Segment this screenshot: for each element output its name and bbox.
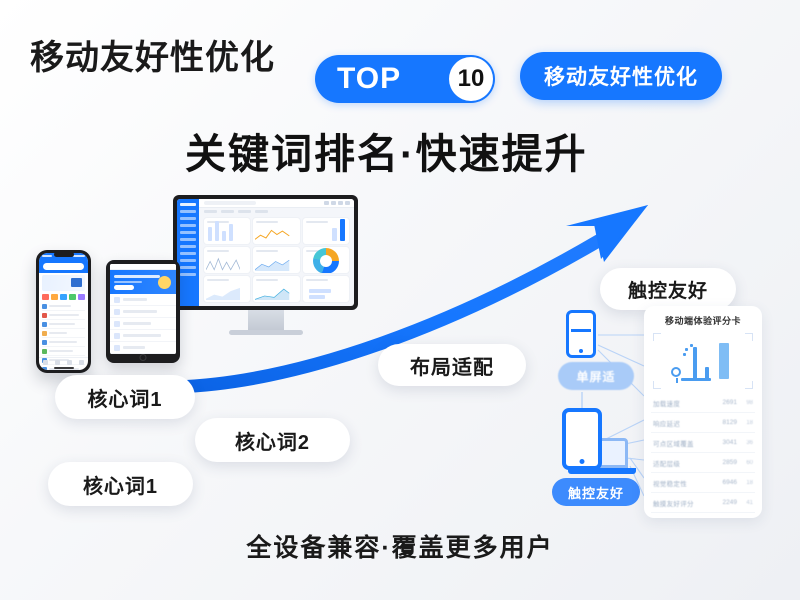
- scorecard-row-name: 触摸友好评分: [653, 498, 713, 508]
- keyword-pill-2[interactable]: 核心词2: [195, 418, 350, 462]
- scorecard-row-value: 2859: [713, 459, 737, 466]
- dashboard-donut-card: [303, 247, 349, 273]
- scorecard-row-name: 视觉稳定性: [653, 478, 713, 488]
- scorecard-row-value: 8129: [713, 419, 737, 426]
- phone-search-bar: [43, 263, 84, 270]
- top-rank-badge: TOP 10: [315, 55, 495, 103]
- scorecard-chart: [653, 333, 753, 389]
- phone-notch: [54, 252, 74, 257]
- dashboard-card: [204, 247, 250, 273]
- scorecard-row-value: 3041: [713, 439, 737, 446]
- scorecard-row: 加载速度269198: [651, 393, 755, 413]
- tablet-hero-banner: [110, 270, 176, 294]
- dashboard-card: [253, 218, 299, 244]
- scorecard-row-score: 60: [737, 460, 753, 466]
- scorecard-row-name: 适配层级: [653, 458, 713, 468]
- page-title: 关键词排名·快速提升: [185, 120, 588, 180]
- dashboard-tabs: [199, 208, 354, 215]
- scorecard-row-name: 响应延迟: [653, 418, 713, 428]
- diagram-tag-single-screen: 单屏适: [558, 362, 634, 390]
- scorecard-row-name: 可点区域覆盖: [653, 438, 713, 448]
- scorecard-row-value: 2691: [713, 399, 737, 406]
- scorecard-row: 适配层级285960: [651, 453, 755, 473]
- dashboard-card: [204, 218, 250, 244]
- poster-canvas: 移动友好性优化 TOP 10 移动友好性优化 关键词排名·快速提升: [0, 0, 800, 600]
- scorecard-rows: 加载速度269198响应延迟812918可点区域覆盖304136适配层级2859…: [651, 393, 755, 513]
- scorecard-row-score: 18: [737, 480, 753, 486]
- dashboard-card: [303, 276, 349, 302]
- dashboard-card: [253, 247, 299, 273]
- dashboard-card: [303, 218, 349, 244]
- phone-banner: [42, 275, 85, 291]
- scorecard-row-name: 加载速度: [653, 398, 713, 408]
- scorecard-row-score: 36: [737, 440, 753, 446]
- scorecard-row: 触摸友好评分224941: [651, 493, 755, 513]
- keyword-pill-layout-fit[interactable]: 布局适配: [378, 344, 526, 386]
- keyword-pill-3[interactable]: 核心词1: [48, 462, 193, 506]
- scorecard-row-value: 6946: [713, 479, 737, 486]
- monitor-base: [229, 330, 303, 335]
- monitor-screen: [173, 195, 358, 310]
- scorecard-row: 可点区域覆盖304136: [651, 433, 755, 453]
- dashboard-card: [253, 276, 299, 302]
- scorecard-title: 移动端体验评分卡: [651, 314, 755, 327]
- dashboard-sidebar: [177, 199, 199, 306]
- dashboard-cards: [199, 215, 354, 306]
- phone-home-indicator: [54, 367, 74, 369]
- keyword-pill-1[interactable]: 核心词1: [55, 375, 195, 419]
- dashboard-card: [204, 276, 250, 302]
- donut-chart: [313, 248, 339, 273]
- tablet-mockup: [106, 260, 180, 363]
- dashboard-topbar: [199, 199, 354, 208]
- scorecard-row-score: 41: [737, 500, 753, 506]
- monitor-stand: [248, 310, 284, 330]
- footer-tagline: 全设备兼容·覆盖更多用户: [0, 528, 800, 564]
- top-badge-label: TOP: [337, 62, 401, 96]
- diagram-tag-touch-friendly: 触控友好: [552, 478, 640, 506]
- small-phone-icon: [566, 310, 596, 358]
- phone-mockup: [36, 250, 91, 373]
- mobile-experience-diagram: 单屏适 触控友好 移动端体验评分卡 加载速度269198响应延迟812918可点…: [548, 300, 763, 525]
- header-side-pill: 移动友好性优化: [520, 52, 722, 100]
- scorecard-row: 响应延迟812918: [651, 413, 755, 433]
- scorecard-row-value: 2249: [713, 499, 737, 506]
- top-badge-number: 10: [449, 57, 493, 101]
- tablet-home-button: [140, 354, 147, 361]
- scorecard-row-score: 98: [737, 400, 753, 406]
- large-phone-icon: [562, 408, 602, 470]
- scorecard-row: 视觉稳定性694618: [651, 473, 755, 493]
- phone-tabbar: [39, 357, 88, 366]
- device-mockups: [28, 195, 338, 375]
- desktop-monitor-mockup: [173, 195, 358, 335]
- phone-quick-icons: [39, 293, 88, 301]
- header-kicker: 移动友好性优化: [30, 30, 275, 79]
- scorecard-row-score: 18: [737, 420, 753, 426]
- experience-scorecard: 移动端体验评分卡 加载速度269198响应延迟812918可点区域覆盖30413…: [644, 306, 762, 518]
